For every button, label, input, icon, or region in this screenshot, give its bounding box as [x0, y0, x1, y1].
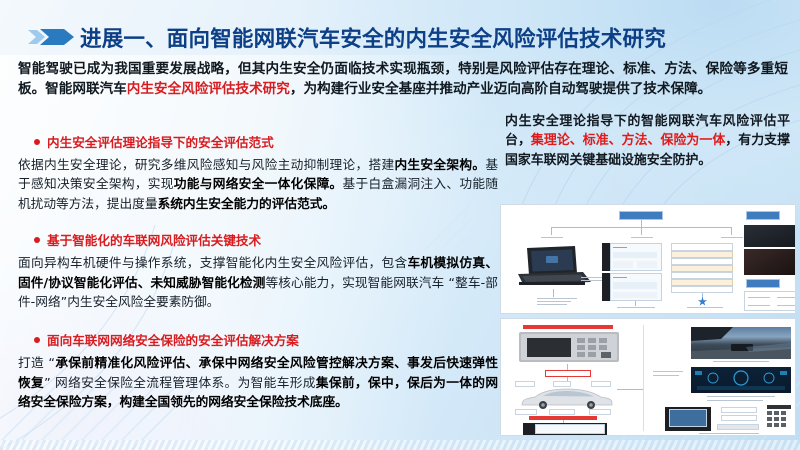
figures-column	[500, 204, 796, 436]
body-text: 打造 “	[18, 355, 55, 370]
intro-text-part2: ，为构建行业安全基座并推动产业迈向高阶自动驾驶提供了技术保障。	[290, 81, 711, 97]
emphasis-text: 系统内生安全能力的评估范式。	[158, 196, 336, 211]
section-body: 面向异构车机硬件与操作系统，支撑智能化内生安全风险评估，包含车机模拟仿真、固件/…	[18, 253, 498, 311]
body-text: 面向异构车机硬件与操作系统，支撑智能化内生安全风险评估，包含	[18, 255, 407, 270]
red-dot-icon	[34, 237, 40, 243]
vehicle-simulation-screenshot	[500, 318, 796, 436]
section-body: 打造 “承保前精准化风险评估、承保中网络安全风险管控解决方案、事发后快速弹性恢复…	[18, 353, 498, 411]
bottom-hatch-strip	[0, 440, 800, 450]
section-heading-label: 面向车联网网络安全保险的安全评估解决方案	[47, 330, 299, 349]
section-body: 依据内生安全理论，研究多维风险感知与风险主动抑制理论，搭建内生安全架构。基于感知…	[18, 155, 498, 213]
body-text: ” 网络安全保险全流程管理体系。为智能车形成	[44, 375, 316, 390]
section-block: 面向车联网网络安全保险的安全评估解决方案 打造 “承保前精准化风险评估、承保中网…	[18, 330, 498, 411]
section-block: 基于智能化的车联网风险评估关键技术 面向异构车机硬件与操作系统，支撑智能化内生安…	[18, 230, 498, 311]
emphasis-text: 内生安全架构。	[394, 157, 485, 172]
red-dot-icon	[34, 139, 40, 145]
red-dot-icon	[34, 337, 40, 343]
instrument-cluster-photo	[691, 367, 791, 393]
slide-header: 进展一、面向智能网联汽车安全的内生安全风险评估技术研究	[0, 0, 800, 56]
section-heading-label: 基于智能化的车联网风险评估关键技术	[47, 230, 261, 249]
section-block: 内生安全评估理论指导下的安全评估范式 依据内生安全理论，研究多维风险感知与风险主…	[18, 132, 498, 213]
section-heading: 内生安全评估理论指导下的安全评估范式	[18, 132, 498, 151]
star-icon	[698, 297, 707, 306]
section-heading: 面向车联网网络安全保险的安全评估解决方案	[18, 330, 498, 349]
server-rack-icon	[765, 405, 793, 431]
right-paragraph: 内生安全理论指导下的智能网联汽车风险评估平台，集理论、标准、方法、保险为一体，有…	[505, 112, 790, 170]
right-text-column: 内生安全理论指导下的智能网联汽车风险评估平台，集理论、标准、方法、保险为一体，有…	[505, 112, 790, 170]
intro-highlight: 内生安全风险评估技术研究	[127, 81, 290, 97]
sedan-car-illustration	[519, 387, 615, 409]
intro-paragraph: 智能驾驶已成为我国重要发展战略，但其内生安全仍面临技术实现瓶颈，特别是风险评估存…	[18, 60, 788, 99]
section-heading: 基于智能化的车联网风险评估关键技术	[18, 230, 498, 249]
body-text: 依据内生安全理论，研究多维风险感知与风险主动抑制理论，搭建	[18, 157, 394, 172]
rugged-laptop-illustration	[513, 243, 595, 289]
section-heading-label: 内生安全评估理论指导下的安全评估范式	[47, 132, 274, 151]
emphasis-text: 功能与网络安全一体化保障。	[174, 176, 343, 191]
slide-canvas: 进展一、面向智能网联汽车安全的内生安全风险评估技术研究 智能驾驶已成为我国重要发…	[0, 0, 800, 450]
head-unit-device-illustration	[519, 332, 619, 362]
platform-architecture-screenshot	[500, 204, 796, 314]
sections-column: 内生安全评估理论指导下的安全评估范式 依据内生安全理论，研究多维风险感知与风险主…	[18, 130, 498, 425]
right-text-highlight: 集理论、标准、方法、保险为一体	[531, 133, 725, 148]
driving-view-photo	[691, 327, 791, 359]
chevron-arrow-icon	[28, 28, 76, 51]
page-title: 进展一、面向智能网联汽车安全的内生安全风险评估技术研究	[80, 22, 666, 53]
